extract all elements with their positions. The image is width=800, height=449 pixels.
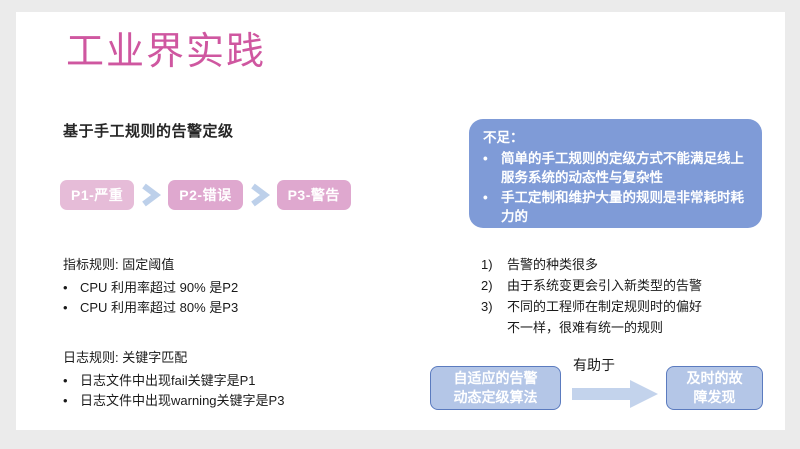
weakness-heading: 不足：	[483, 128, 752, 148]
priority-flow-diagram: P1-严重 P2-错误 P3-警告	[60, 180, 351, 210]
priority-step-p3[interactable]: P3-警告	[277, 180, 351, 210]
reasons-numbered-list: 1) 告警的种类很多 2) 由于系统变更会引入新类型的告警 3) 不同的工程师在…	[481, 254, 702, 338]
list-item: • 日志文件中出现fail关键字是P1	[63, 371, 284, 391]
metric-rule-item-1: CPU 利用率超过 90% 是P2	[80, 278, 238, 298]
page-title: 工业界实践	[66, 32, 266, 74]
bullet-icon: •	[63, 278, 80, 298]
reason-item-1: 告警的种类很多	[507, 254, 702, 275]
log-rules-heading: 日志规则: 关键字匹配	[63, 348, 284, 368]
left-section-subtitle: 基于手工规则的告警定级	[63, 120, 234, 141]
list-item: • 简单的手工规则的定级方式不能满足线上服务系统的动态性与复杂性	[483, 149, 752, 188]
weakness-callout-box: 不足： • 简单的手工规则的定级方式不能满足线上服务系统的动态性与复杂性 • 手…	[469, 119, 762, 228]
priority-step-p2-label: P2-错误	[179, 185, 231, 205]
list-item: • CPU 利用率超过 90% 是P2	[63, 278, 238, 298]
bottom-flow-source-box[interactable]: 自适应的告警 动态定级算法	[430, 366, 561, 410]
list-item: 2) 由于系统变更会引入新类型的告警	[481, 275, 702, 296]
weakness-item-2: 手工定制和维护大量的规则是非常耗时耗力的	[501, 188, 752, 227]
bottom-flow-source-line1: 自适应的告警	[454, 369, 538, 388]
list-marker: 2)	[481, 275, 507, 296]
chevron-right-icon	[243, 180, 277, 210]
chevron-right-icon	[134, 180, 168, 210]
metric-rule-item-2: CPU 利用率超过 80% 是P3	[80, 298, 238, 318]
list-marker: 3)	[481, 296, 507, 317]
bottom-flow-source-line2: 动态定级算法	[454, 388, 538, 407]
metric-rules-block: 指标规则: 固定阈值 • CPU 利用率超过 90% 是P2 • CPU 利用率…	[63, 255, 238, 318]
list-marker: 1)	[481, 254, 507, 275]
bullet-icon: •	[63, 298, 80, 318]
bottom-flow-target-box[interactable]: 及时的故 障发现	[666, 366, 763, 410]
list-item: • 日志文件中出现warning关键字是P3	[63, 391, 284, 411]
weakness-item-1: 简单的手工规则的定级方式不能满足线上服务系统的动态性与复杂性	[501, 149, 752, 188]
slide-canvas: 工业界实践 基于手工规则的告警定级 P1-严重 P2-错误 P3-警告 指标规则…	[16, 12, 785, 430]
reason-item-3: 不同的工程师在制定规则时的偏好	[507, 296, 702, 317]
reason-item-3-continued: 不一样，很难有统一的规则	[481, 317, 702, 338]
bullet-icon: •	[63, 391, 80, 411]
list-item: • 手工定制和维护大量的规则是非常耗时耗力的	[483, 188, 752, 227]
bullet-icon: •	[483, 149, 501, 169]
bullet-icon: •	[63, 371, 80, 391]
bottom-flow-target-line2: 障发现	[694, 388, 736, 407]
priority-step-p2[interactable]: P2-错误	[168, 180, 242, 210]
priority-step-p1-label: P1-严重	[71, 185, 123, 205]
log-rule-item-1: 日志文件中出现fail关键字是P1	[80, 371, 256, 391]
reason-item-2: 由于系统变更会引入新类型的告警	[507, 275, 702, 296]
bullet-icon: •	[483, 188, 501, 208]
priority-step-p1[interactable]: P1-严重	[60, 180, 134, 210]
log-rule-item-2: 日志文件中出现warning关键字是P3	[80, 391, 284, 411]
metric-rules-heading: 指标规则: 固定阈值	[63, 255, 238, 275]
list-item: 1) 告警的种类很多	[481, 254, 702, 275]
log-rules-block: 日志规则: 关键字匹配 • 日志文件中出现fail关键字是P1 • 日志文件中出…	[63, 348, 284, 411]
arrow-right-icon	[572, 379, 658, 414]
list-item: • CPU 利用率超过 80% 是P3	[63, 298, 238, 318]
bottom-flow-target-line1: 及时的故	[687, 369, 743, 388]
priority-step-p3-label: P3-警告	[288, 185, 340, 205]
list-item: 3) 不同的工程师在制定规则时的偏好	[481, 296, 702, 317]
bottom-flow-connector-label: 有助于	[573, 355, 615, 375]
